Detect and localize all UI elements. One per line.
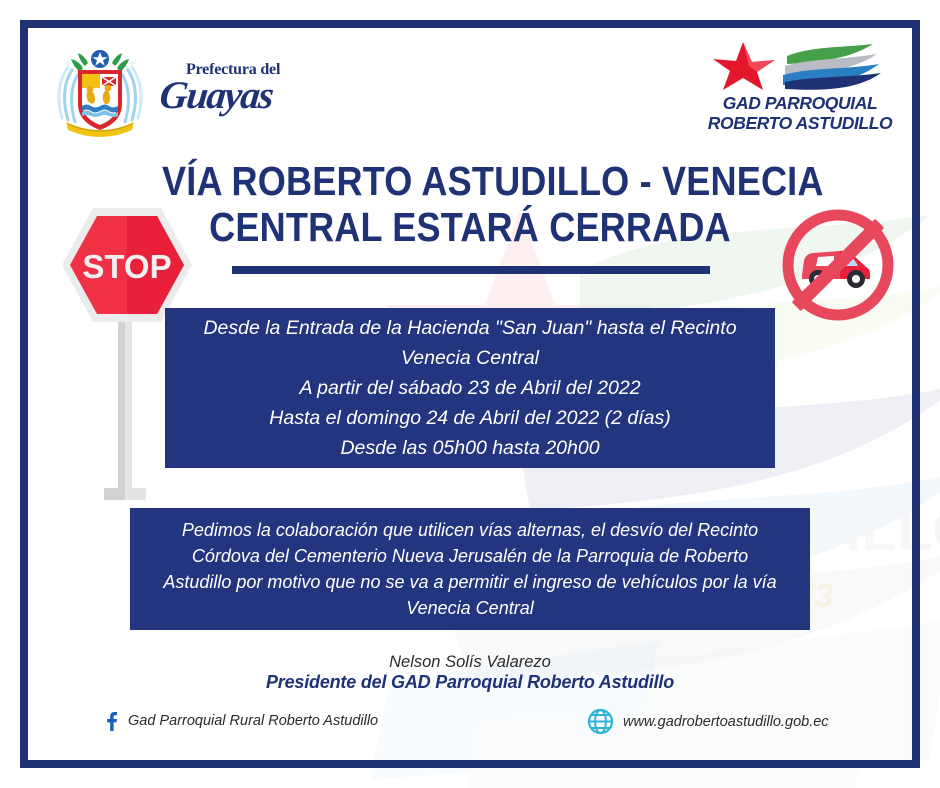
guayas-coat-of-arms-icon: [52, 42, 148, 138]
detour-line: Pedimos la colaboración que utilicen vía…: [182, 517, 758, 543]
signatory-name: Nelson Solís Valarezo: [120, 652, 820, 672]
schedule-line: Venecia Central: [401, 343, 539, 373]
title-divider: [232, 266, 710, 274]
poster-canvas: ROBERTO ASTUDILLO 27 de Agosto de 1973: [0, 0, 940, 788]
footer-facebook-text: Gad Parroquial Rural Roberto Astudillo: [128, 713, 378, 729]
prefectura-wordmark: Prefectura del Guayas: [160, 55, 310, 125]
footer-website[interactable]: www.gadrobertoastudillo.gob.ec: [587, 708, 829, 735]
page-title-line1: VÍA ROBERTO ASTUDILLO - VENECIA: [162, 158, 778, 204]
gad-logo-line1: GAD PARROQUIAL: [705, 94, 895, 112]
red-star-icon: [705, 40, 895, 92]
globe-icon: [587, 708, 614, 735]
facebook-icon: [103, 711, 119, 731]
footer-website-text: www.gadrobertoastudillo.gob.ec: [623, 714, 829, 730]
page-title: VÍA ROBERTO ASTUDILLO - VENECIA CENTRAL …: [120, 158, 820, 250]
prefectura-line2: Guayas: [158, 73, 275, 118]
detour-line: Venecia Central: [406, 595, 533, 621]
gad-logo-line2: ROBERTO ASTUDILLO: [705, 114, 895, 132]
schedule-line: Hasta el domingo 24 de Abril del 2022 (2…: [269, 403, 670, 433]
signatory-role: Presidente del GAD Parroquial Roberto As…: [120, 672, 820, 693]
footer-facebook[interactable]: Gad Parroquial Rural Roberto Astudillo: [103, 711, 378, 731]
schedule-info-box: Desde la Entrada de la Hacienda "San Jua…: [165, 308, 775, 468]
schedule-line: A partir del sábado 23 de Abril del 2022: [299, 373, 640, 403]
prefectura-guayas-logo: Prefectura del Guayas: [52, 42, 312, 138]
signature-block: Nelson Solís Valarezo Presidente del GAD…: [120, 652, 820, 693]
schedule-line: Desde la Entrada de la Hacienda "San Jua…: [203, 313, 736, 343]
schedule-line: Desde las 05h00 hasta 20h00: [340, 433, 599, 463]
gad-parroquial-logo: GAD PARROQUIAL ROBERTO ASTUDILLO: [705, 40, 895, 140]
page-title-line2: CENTRAL ESTARÁ CERRADA: [162, 204, 778, 250]
detour-info-box: Pedimos la colaboración que utilicen vía…: [130, 508, 810, 630]
detour-line: Astudillo por motivo que no se va a perm…: [163, 569, 776, 595]
detour-line: Córdova del Cementerio Nueva Jerusalén d…: [192, 543, 748, 569]
